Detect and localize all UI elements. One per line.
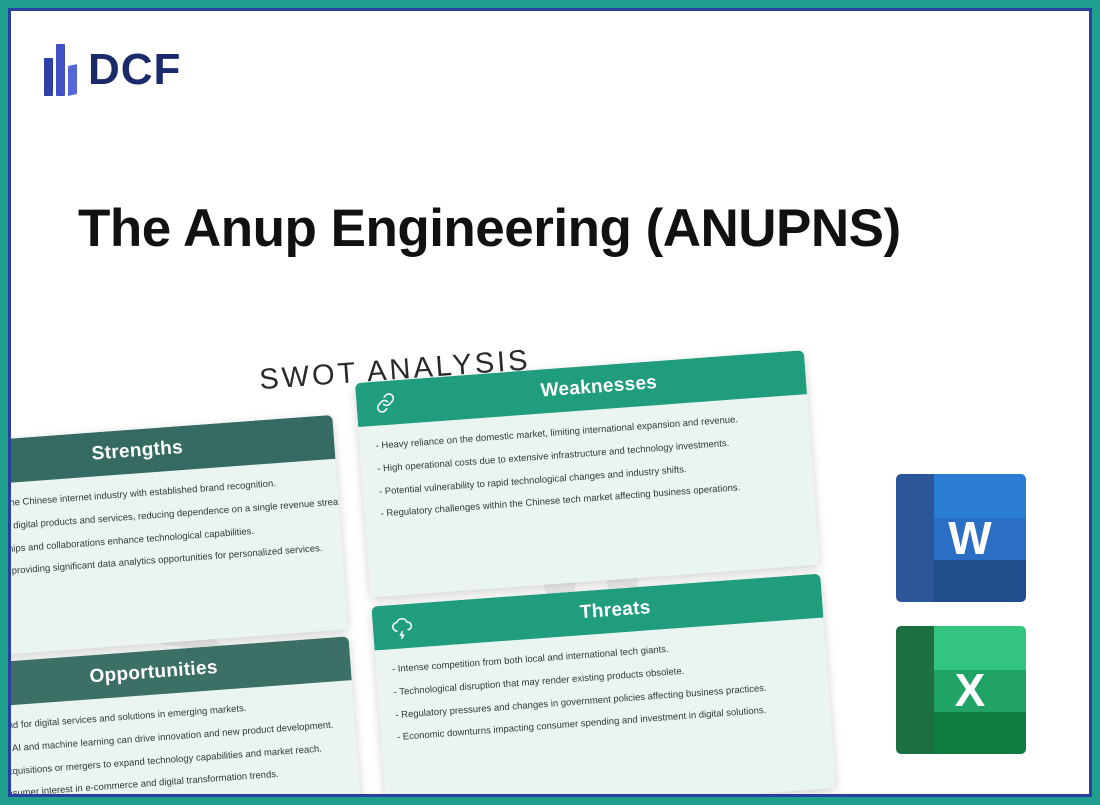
storm-cloud-icon [388, 612, 416, 640]
swot-card-strengths: Strengths - Strong foothold in the Chine… [0, 415, 348, 661]
swot-card-opportunities: Opportunities - Growing demand for digit… [0, 636, 364, 805]
microsoft-excel-icon[interactable]: X [896, 626, 1026, 754]
swot-analysis-graphic: SWOT ANALYSIS S W Strengths [0, 338, 848, 805]
swot-card-threats: Threats - Intense competition from both … [371, 574, 836, 805]
swot-card-weaknesses: Weaknesses - Heavy reliance on the domes… [355, 350, 820, 597]
dcf-bars-logo-icon [44, 44, 78, 96]
brand-name: DCF [88, 45, 181, 95]
swot-card-strengths-items: - Strong foothold in the Chinese interne… [0, 459, 344, 605]
link-chain-icon [372, 389, 400, 417]
microsoft-word-icon[interactable]: W [896, 474, 1026, 602]
page-title: The Anup Engineering (ANUPNS) [78, 198, 1038, 259]
excel-letter: X [896, 626, 1026, 754]
document-page: DCF The Anup Engineering (ANUPNS) SWOT A… [0, 0, 1100, 805]
dcf-logo: DCF [44, 44, 181, 96]
word-letter: W [896, 474, 1026, 602]
